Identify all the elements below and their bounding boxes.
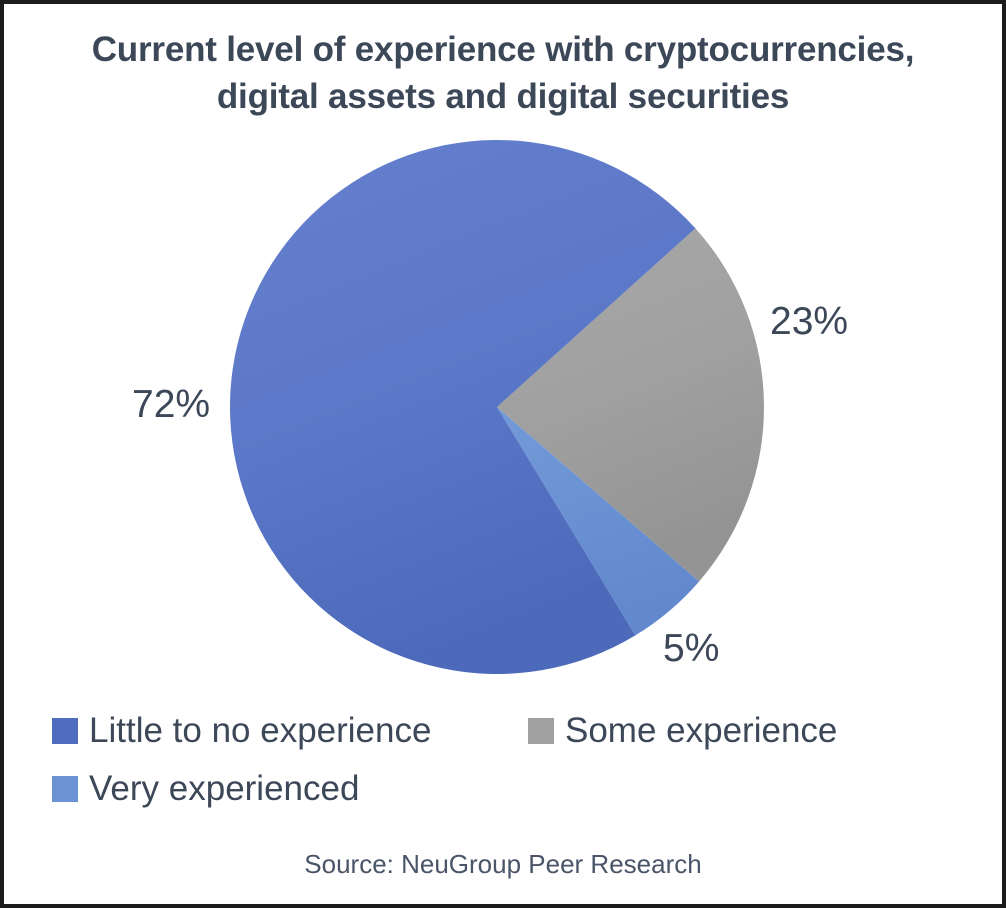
legend-swatch-icon xyxy=(528,718,554,744)
data-label-some-experience: 23% xyxy=(770,300,848,344)
data-label-little-to-no-experience: 72% xyxy=(132,383,210,427)
legend-swatch-icon xyxy=(52,718,78,744)
legend-item-some-experience[interactable]: Some experience xyxy=(528,712,837,750)
page-title: Current level of experience with cryptoc… xyxy=(30,26,976,120)
legend-label: Some experience xyxy=(565,712,837,750)
legend-label: Very experienced xyxy=(89,770,359,808)
legend-label: Little to no experience xyxy=(89,712,431,750)
data-label-very-experienced: 5% xyxy=(663,627,719,671)
legend-row-1: Little to no experience Some experience xyxy=(52,702,952,760)
title-line-2: digital assets and digital securities xyxy=(30,73,976,120)
source-note: Source: NeuGroup Peer Research xyxy=(30,849,976,880)
chart-canvas: Current level of experience with cryptoc… xyxy=(0,0,1006,908)
legend-item-little-to-no-experience[interactable]: Little to no experience xyxy=(52,712,528,750)
title-line-1: Current level of experience with cryptoc… xyxy=(30,26,976,73)
legend-swatch-icon xyxy=(52,776,78,802)
legend-row-2: Very experienced xyxy=(52,760,952,818)
legend-item-very-experienced[interactable]: Very experienced xyxy=(52,770,528,808)
chart-legend: Little to no experience Some experience … xyxy=(52,702,952,818)
